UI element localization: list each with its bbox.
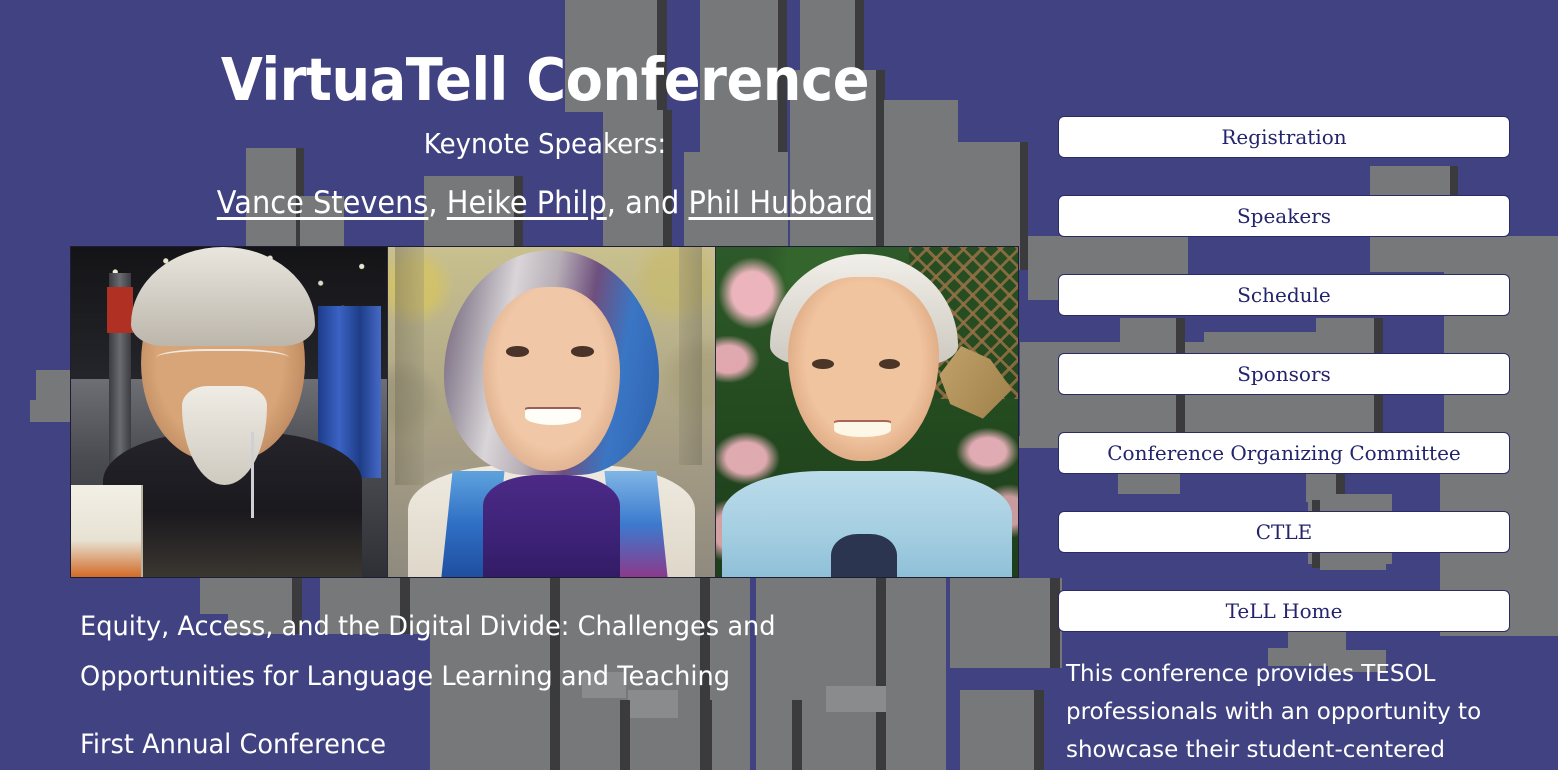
photo2-turtleneck (483, 475, 620, 577)
speaker-photo-vance-stevens (71, 247, 387, 577)
nav-button-ctle[interactable]: CTLE (1058, 511, 1510, 553)
keynote-speakers-list: Vance Stevens, Heike Philp, and Phil Hub… (38, 185, 1052, 221)
conference-subtitle: First Annual Conference (80, 720, 935, 770)
nav-button-conference-organizing-committee[interactable]: Conference Organizing Committee (1058, 432, 1510, 474)
speakers-separator-2: , and (607, 185, 689, 221)
nav-button-schedule[interactable]: Schedule (1058, 274, 1510, 316)
speaker-photo-heike-philp (387, 247, 714, 577)
photo3-undershirt (831, 534, 898, 577)
photo3-eye-left (812, 359, 833, 369)
speaker-link-vance-stevens[interactable]: Vance Stevens (217, 185, 429, 221)
speakers-separator-1: , (428, 185, 446, 221)
speaker-link-phil-hubbard[interactable]: Phil Hubbard (688, 185, 873, 221)
photo1-lanyard (251, 432, 254, 518)
keynote-speakers-label: Keynote Speakers: (38, 127, 1052, 160)
nav-button-speakers[interactable]: Speakers (1058, 195, 1510, 237)
speaker-photo-strip (70, 246, 1019, 578)
photo1-sign (107, 287, 132, 333)
photo1-book-display (71, 485, 143, 577)
photo3-smile (834, 422, 891, 437)
speaker-photo-phil-hubbard (715, 247, 1018, 577)
nav-button-registration[interactable]: Registration (1058, 116, 1510, 158)
photo2-face (483, 287, 620, 472)
photo1-glasses (156, 349, 289, 371)
photo2-tree-right (679, 247, 702, 465)
speaker-link-heike-philp[interactable]: Heike Philp (447, 185, 607, 221)
nav-button-sponsors[interactable]: Sponsors (1058, 353, 1510, 395)
photo2-eye-right (571, 346, 594, 357)
photo2-tree-left (395, 247, 424, 485)
page-title: VirtuaTell Conference (44, 48, 1047, 113)
photo2-eye-left (506, 346, 529, 357)
tagline-line-2: Opportunities for Language Learning and … (80, 652, 935, 702)
conference-tagline: Equity, Access, and the Digital Divide: … (80, 602, 935, 770)
nav-button-tell-home[interactable]: TeLL Home (1058, 590, 1510, 632)
conference-landing-page: VirtuaTell Conference Keynote Speakers: … (0, 0, 1558, 770)
conference-description-blurb: This conference provides TESOL professio… (1066, 655, 1526, 769)
tagline-line-1: Equity, Access, and the Digital Divide: … (80, 602, 935, 652)
site-navigation: Registration Speakers Schedule Sponsors … (1058, 116, 1510, 669)
